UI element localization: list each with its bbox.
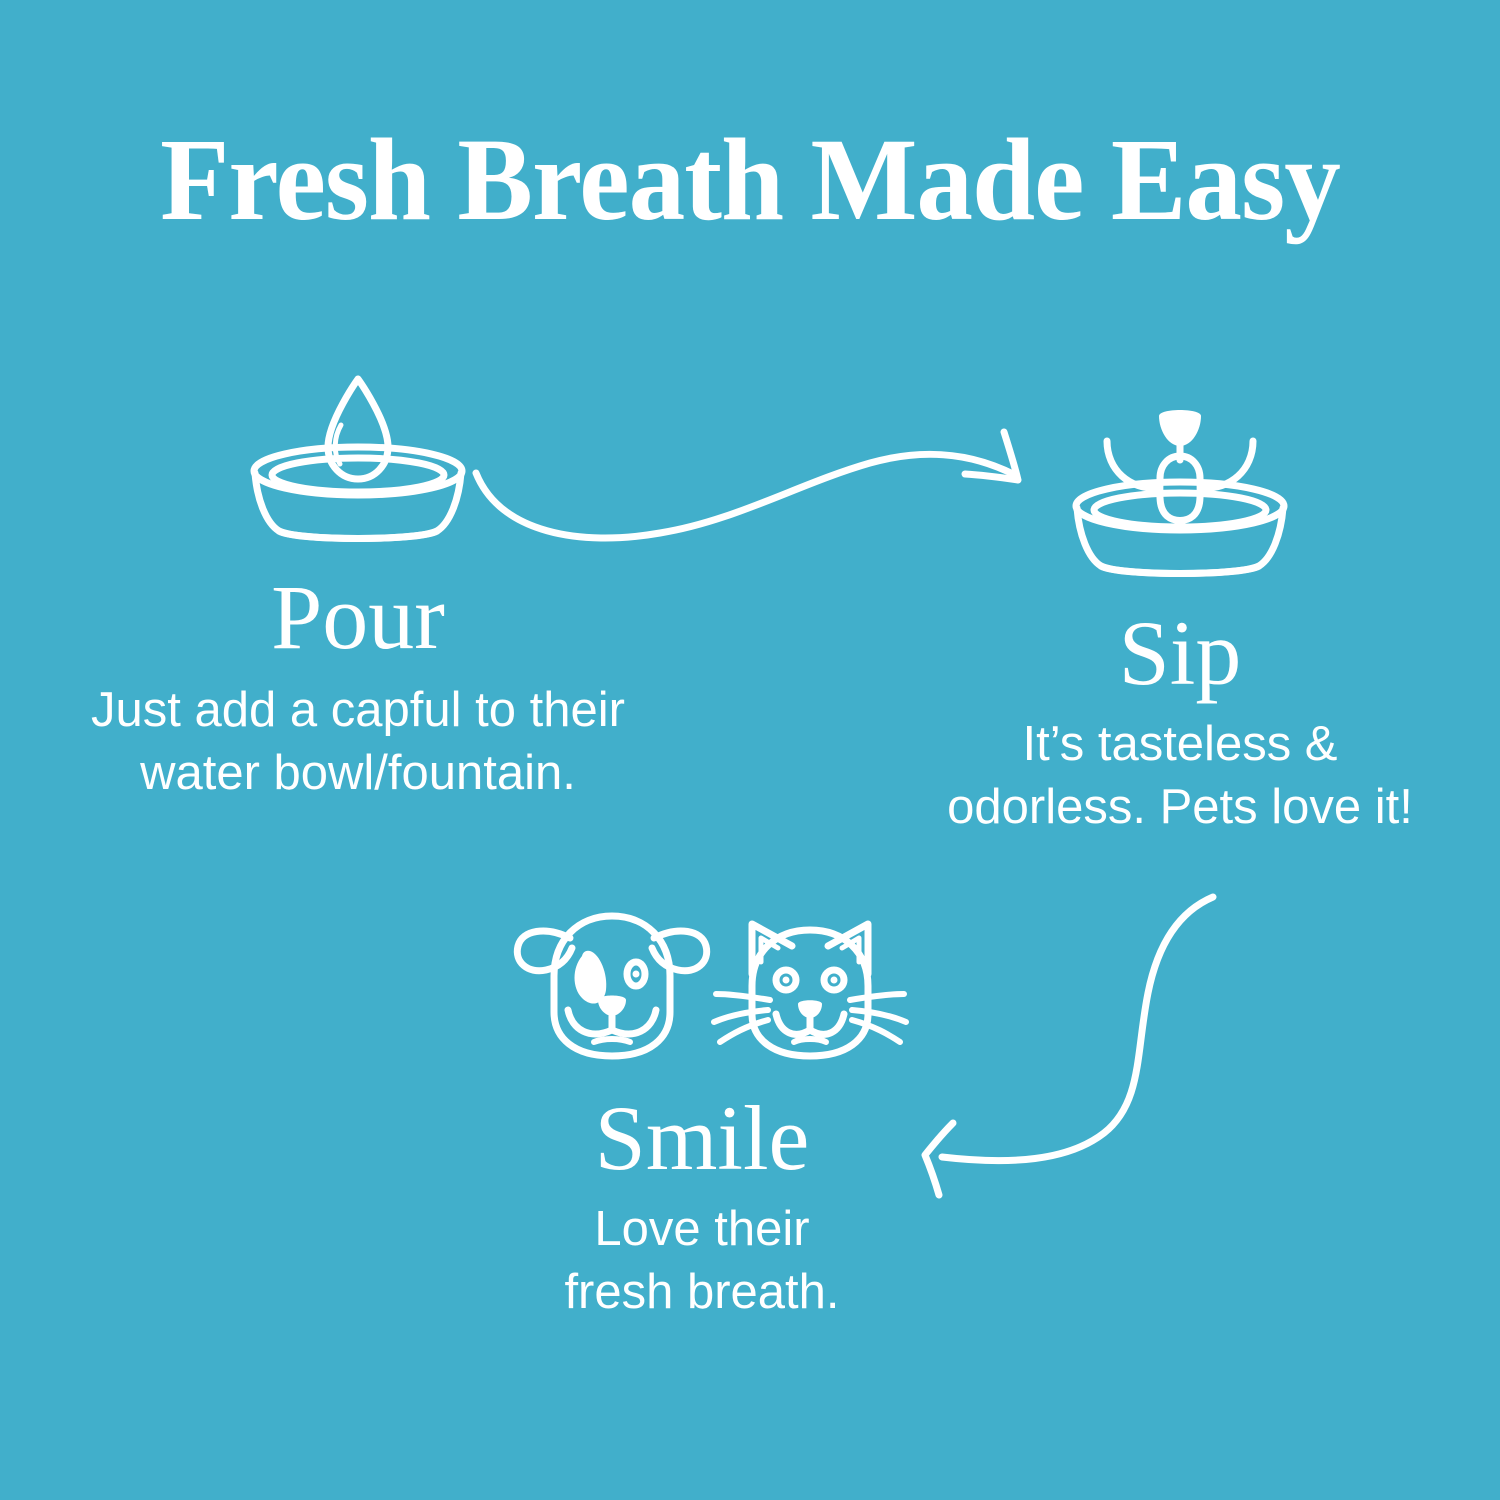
- dog-and-cat-faces-icon: [502, 890, 902, 1070]
- water-drop-over-pet-bowl-icon: [233, 365, 483, 545]
- step-pour: Pour Just add a capful to their water bo…: [0, 365, 716, 804]
- step-pour-heading: Pour: [0, 571, 716, 663]
- step-smile-heading: Smile: [392, 1092, 1012, 1184]
- infographic-canvas: Fresh Breath Made Easy: [0, 0, 1500, 1500]
- step-sip-caption: It’s tasteless & odorless. Pets love it!: [860, 713, 1500, 838]
- cat-face-icon: [714, 924, 906, 1056]
- step-smile: Smile Love their fresh breath.: [392, 890, 1012, 1323]
- page-title: Fresh Breath Made Easy: [30, 118, 1470, 242]
- step-sip-heading: Sip: [860, 607, 1500, 699]
- step-sip: Sip It’s tasteless & odorless. Pets love…: [860, 398, 1500, 838]
- step-smile-caption: Love their fresh breath.: [392, 1198, 1012, 1323]
- dog-face-icon: [517, 916, 706, 1056]
- step-pour-caption: Just add a capful to their water bowl/fo…: [0, 679, 716, 804]
- dog-drinking-from-bowl-icon: [1055, 398, 1305, 583]
